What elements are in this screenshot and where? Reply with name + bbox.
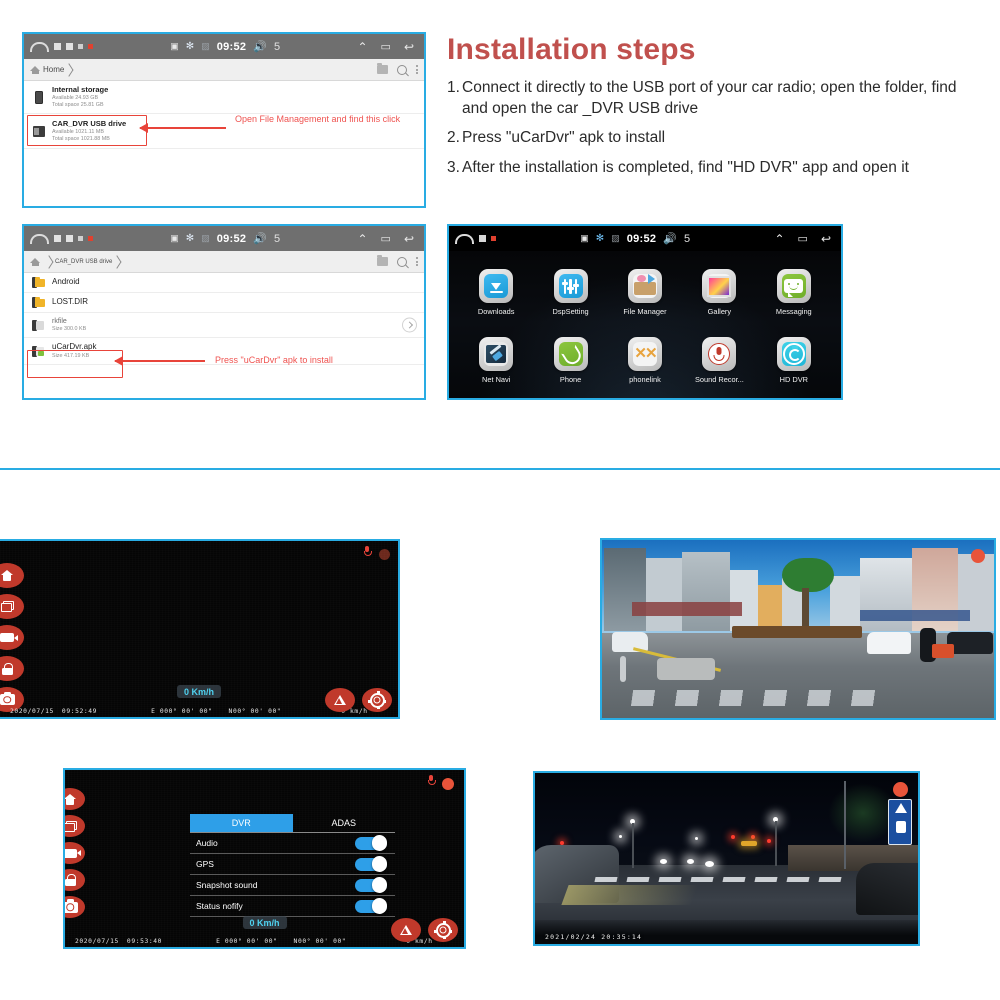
recents-square-icon[interactable]: [54, 43, 61, 50]
app-hd-dvr[interactable]: HD DVR: [757, 327, 831, 395]
home-icon[interactable]: [30, 234, 49, 244]
list-item-size: Size 417.19 KB: [52, 353, 96, 360]
traffic-light-red: [751, 835, 755, 839]
traffic-light-red: [731, 835, 735, 839]
sim-icon: ▣: [170, 41, 179, 52]
app-phonelink[interactable]: ✕✕ phonelink: [608, 327, 682, 395]
osd-longitude: E 000° 00' 00": [151, 708, 212, 715]
breadcrumb-item-usb[interactable]: CAR_DVR USB drive: [55, 259, 121, 265]
screenshot-app-drawer: ▣ ✻ ▨ 09:52 🔊 5 ⌃ ▭ ↩ Downloads: [447, 224, 843, 400]
app-label: Messaging: [776, 307, 812, 316]
step-text: Press "uCarDvr" apk to install: [462, 128, 962, 149]
breadcrumb-item-home[interactable]: [30, 257, 53, 266]
overflow-menu-icon[interactable]: [416, 65, 418, 74]
list-item: 3. After the installation is completed, …: [447, 158, 962, 179]
setting-row-gps[interactable]: GPS: [190, 854, 395, 875]
adas-button[interactable]: [325, 688, 355, 712]
tab-adas[interactable]: ADAS: [293, 814, 396, 832]
bluetooth-icon: ✻: [186, 233, 194, 244]
apps-square-icon[interactable]: [66, 43, 73, 50]
microphone-icon: [364, 546, 370, 559]
app-dspsetting[interactable]: DspSetting: [533, 259, 607, 327]
osd-time: 09:52:49: [62, 708, 97, 715]
microphone-icon: [428, 775, 434, 788]
extra-square-icon: [78, 236, 83, 241]
home-icon[interactable]: [30, 42, 49, 52]
search-icon[interactable]: [397, 257, 407, 267]
list-item-available: Available 1021.11 MB: [52, 129, 126, 136]
toggle-audio[interactable]: [355, 837, 387, 850]
window-button[interactable]: [0, 594, 24, 619]
new-folder-icon[interactable]: [377, 257, 388, 266]
osd-date: 2020/07/15: [75, 938, 119, 945]
list-item-title: Android: [52, 277, 80, 288]
bluetooth-icon: ✻: [186, 41, 194, 52]
list-item-title: CAR_DVR USB drive: [52, 119, 126, 129]
recents-square-icon[interactable]: [54, 235, 61, 242]
android-status-bar: ▣ ✻ ▨ 09:52 🔊 5 ⌃ ▭ ↩: [24, 34, 424, 59]
app-label: File Manager: [623, 307, 666, 316]
app-label: phonelink: [629, 375, 661, 384]
volume-icon[interactable]: 🔊: [253, 40, 267, 53]
back-icon[interactable]: ↩: [821, 232, 831, 246]
chevron-right-icon[interactable]: [402, 318, 417, 333]
app-downloads[interactable]: Downloads: [459, 259, 533, 327]
recents-icon[interactable]: ▭: [381, 40, 391, 53]
bluetooth-icon: ✻: [596, 233, 604, 244]
page-title: Installation steps: [447, 33, 696, 67]
message-icon: [777, 269, 811, 303]
list-item-available: Available 24.93 GB: [52, 95, 108, 102]
chevron-up-icon[interactable]: ⌃: [774, 232, 784, 246]
download-icon: [479, 269, 513, 303]
step-text: Connect it directly to the USB port of y…: [462, 78, 962, 119]
app-label: HD DVR: [780, 375, 808, 384]
breadcrumb-item-home[interactable]: Home: [30, 65, 73, 74]
window-button[interactable]: [63, 815, 85, 837]
setting-row-status-notify[interactable]: Status nofify: [190, 896, 395, 917]
list-item-size: Size 300.0 KB: [52, 326, 86, 333]
android-status-bar: ▣ ✻ ▨ 09:52 🔊 5 ⌃ ▭ ↩: [449, 226, 841, 251]
list-item[interactable]: Internal storage Available 24.93 GB Tota…: [24, 81, 424, 114]
volume-level: 5: [274, 233, 280, 245]
new-folder-icon[interactable]: [377, 65, 388, 74]
tree-trunk: [802, 588, 809, 628]
home-button[interactable]: [63, 788, 85, 810]
adas-button[interactable]: [391, 918, 421, 942]
setting-row-audio[interactable]: Audio: [190, 833, 395, 854]
settings-tabs: DVR ADAS: [190, 814, 395, 833]
median-planter: [732, 626, 862, 638]
recording-indicator: [971, 549, 985, 563]
street-lamp-icon: [695, 837, 698, 840]
folder-icon: [32, 297, 45, 308]
speed-pill: 0 Km/h: [242, 916, 286, 929]
toggle-status-notify[interactable]: [355, 900, 387, 913]
sim-icon: ▣: [170, 233, 179, 244]
breadcrumb: CAR_DVR USB drive: [24, 251, 424, 273]
annotation-arrow: [115, 360, 205, 362]
microphone-icon: [702, 337, 736, 371]
street-lamp-icon: [619, 835, 622, 838]
status-clock: 09:52: [217, 41, 247, 53]
phone-storage-icon: [32, 91, 45, 104]
sd-card-icon: ▨: [201, 41, 210, 52]
toggle-snapshot-sound[interactable]: [355, 879, 387, 892]
annotation-arrow: [140, 127, 226, 129]
list-item-title: LOST.DIR: [52, 297, 88, 308]
gallery-icon: [702, 269, 736, 303]
osd-longitude: E 000° 00' 00": [216, 938, 277, 945]
recording-indicator: [379, 549, 390, 560]
osd-date: 2020/07/15: [10, 708, 54, 715]
screenshot-dvr-settings: DVR ADAS Audio GPS Snapshot sound Status…: [63, 768, 466, 949]
volume-level: 5: [684, 233, 690, 245]
section-divider: [0, 468, 1000, 470]
sd-card-icon: ▨: [201, 233, 210, 244]
lamp-post: [775, 821, 777, 866]
phone-icon: [554, 337, 588, 371]
apk-icon: [32, 346, 45, 357]
app-label: Gallery: [708, 307, 731, 316]
setting-label: Status nofify: [196, 901, 243, 911]
app-net-navi[interactable]: Net Navi: [459, 327, 533, 395]
app-sound-recorder[interactable]: Sound Recor...: [682, 327, 756, 395]
file-icon: [32, 320, 45, 331]
photo-daytime-dashcam: [600, 538, 996, 720]
app-messaging[interactable]: Messaging: [757, 259, 831, 327]
settings-button[interactable]: [428, 918, 458, 942]
breadcrumb-label: Home: [43, 65, 64, 74]
file-manager-icon: [628, 269, 662, 303]
breadcrumb: Home: [24, 59, 424, 81]
chevron-up-icon[interactable]: ⌃: [357, 40, 367, 54]
video-button[interactable]: [0, 625, 24, 650]
app-label: DspSetting: [553, 307, 589, 316]
bollard: [620, 656, 626, 682]
app-label: Phone: [560, 375, 581, 384]
headlight: [660, 859, 667, 864]
back-icon[interactable]: ↩: [404, 232, 414, 246]
car-right-dark: [856, 863, 920, 915]
list-item: 1. Connect it directly to the USB port o…: [447, 78, 962, 119]
search-icon[interactable]: [397, 65, 407, 75]
speed-pill: 0 Km/h: [177, 685, 221, 698]
app-file-manager[interactable]: File Manager: [608, 259, 682, 327]
warning-triangle-icon: [895, 803, 907, 813]
hd-dvr-icon: [777, 337, 811, 371]
car-right-white: [867, 632, 911, 654]
list-item[interactable]: LOST.DIR: [24, 293, 424, 313]
shopfront-signage-right: [860, 610, 970, 621]
video-button[interactable]: [63, 842, 85, 864]
setting-label: Audio: [196, 838, 218, 848]
recents-square-icon[interactable]: [479, 235, 486, 242]
android-status-bar: ▣ ✻ ▨ 09:52 🔊 5 ⌃ ▭ ↩: [24, 226, 424, 251]
list-item-title: rkfile: [52, 317, 86, 326]
breadcrumb-label: CAR_DVR USB drive: [55, 259, 112, 265]
volume-icon[interactable]: 🔊: [253, 232, 267, 245]
toggle-gps[interactable]: [355, 858, 387, 871]
app-label: Downloads: [478, 307, 515, 316]
navigation-icon: [479, 337, 513, 371]
osd-latitude: N00° 00' 00": [294, 938, 347, 945]
home-crumb-icon: [30, 257, 41, 266]
apps-square-icon[interactable]: [66, 235, 73, 242]
home-crumb-icon: [30, 65, 41, 74]
home-icon[interactable]: [455, 234, 474, 244]
step-number: 2.: [447, 128, 462, 149]
status-clock: 09:52: [627, 233, 657, 245]
annotation-text-press-apk: Press "uCarDvr" apk to install: [215, 354, 415, 368]
sim-icon: ▣: [580, 233, 589, 244]
chevron-up-icon[interactable]: ⌃: [357, 232, 367, 246]
recents-icon[interactable]: ▭: [381, 232, 391, 245]
screenshot-dvr-live: 0 Km/h 2020/07/15 09:52:49 E 000° 00' 00…: [0, 539, 400, 719]
setting-label: Snapshot sound: [196, 880, 257, 890]
volume-icon[interactable]: 🔊: [663, 232, 677, 245]
utility-pole: [844, 781, 846, 869]
dvr-side-toolbar: [0, 563, 24, 712]
equalizer-icon: [554, 269, 588, 303]
settings-panel: DVR ADAS Audio GPS Snapshot sound Status…: [190, 814, 395, 917]
list-item-total: Total space 1021.88 MB: [52, 136, 126, 143]
overflow-menu-icon[interactable]: [416, 257, 418, 266]
list-item-title: Internal storage: [52, 85, 108, 95]
photo-timestamp: 2021/02/24 20:35:14: [545, 933, 642, 941]
dvr-corner-toolbar: [391, 918, 458, 942]
sd-card-icon: ▨: [611, 233, 620, 244]
step-text: After the installation is completed, fin…: [462, 158, 962, 179]
cargo-box: [932, 644, 954, 658]
list-item[interactable]: rkfile Size 300.0 KB: [24, 313, 424, 338]
file-list: Android LOST.DIR rkfile Size 300.0 KB uC…: [24, 273, 424, 365]
recording-indicator: [893, 782, 908, 797]
app-label: Net Navi: [482, 375, 510, 384]
setting-row-snapshot-sound[interactable]: Snapshot sound: [190, 875, 395, 896]
volume-level: 5: [274, 41, 280, 53]
tab-dvr[interactable]: DVR: [190, 814, 293, 832]
headlight-beam: [561, 885, 698, 905]
screenshot-file-manager-usb: ▣ ✻ ▨ 09:52 🔊 5 ⌃ ▭ ↩ CAR_DVR USB drive: [22, 224, 426, 400]
app-label: Sound Recor...: [695, 375, 744, 384]
home-button[interactable]: [0, 563, 24, 588]
lamp-post: [632, 823, 634, 868]
annotation-text-open-file-management: Open File Management and find this click: [235, 113, 415, 127]
app-gallery[interactable]: Gallery: [682, 259, 756, 327]
headlight: [705, 861, 714, 867]
headlight: [687, 859, 694, 864]
recording-indicator: [442, 778, 454, 790]
list-item-total: Total space 25.81 GB: [52, 102, 108, 109]
crosswalk-stripes: [631, 690, 883, 706]
traffic-light-amber: [741, 841, 757, 846]
shopfront-signage: [632, 602, 742, 616]
phonelink-icon: ✕✕: [628, 337, 662, 371]
list-item: 2. Press "uCarDvr" apk to install: [447, 128, 962, 149]
app-phone[interactable]: Phone: [533, 327, 607, 395]
manhole-island: [657, 658, 715, 680]
tree-center: [782, 558, 834, 592]
dvr-corner-toolbar: [325, 688, 392, 712]
photo-night-dashcam: 2021/02/24 20:35:14: [533, 771, 920, 946]
dvr-side-toolbar: [63, 788, 85, 918]
folder-icon: [32, 277, 45, 288]
list-item[interactable]: Android: [24, 273, 424, 293]
accessible-icon: [896, 821, 906, 833]
status-clock: 09:52: [217, 233, 247, 245]
setting-label: GPS: [196, 859, 214, 869]
snapshot-button[interactable]: [63, 896, 85, 918]
steps-list: 1. Connect it directly to the USB port o…: [447, 78, 962, 187]
list-item-title: uCarDvr.apk: [52, 342, 96, 353]
app-drawer: Downloads DspSetting File Manager Galler…: [449, 251, 841, 398]
step-number: 3.: [447, 158, 462, 179]
lock-button[interactable]: [0, 656, 24, 681]
step-number: 1.: [447, 78, 462, 119]
settings-button[interactable]: [362, 688, 392, 712]
usb-drive-icon: [32, 126, 45, 137]
back-icon[interactable]: ↩: [404, 40, 414, 54]
recents-icon[interactable]: ▭: [798, 232, 808, 245]
traffic-light-red: [767, 839, 771, 843]
osd-time: 09:53:40: [127, 938, 162, 945]
extra-square-icon: [78, 44, 83, 49]
lock-button[interactable]: [63, 869, 85, 891]
osd-latitude: N00° 00' 00": [229, 708, 282, 715]
